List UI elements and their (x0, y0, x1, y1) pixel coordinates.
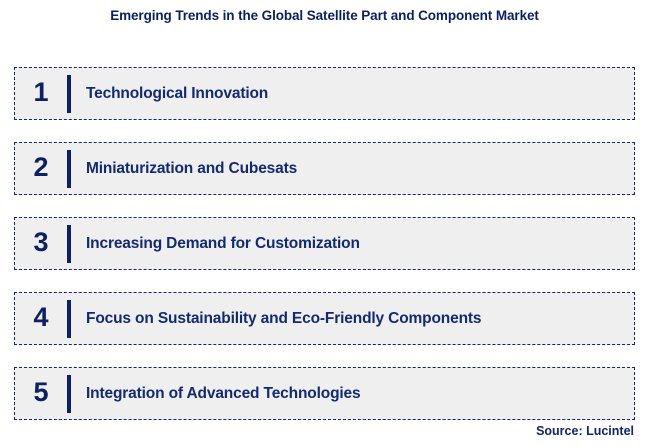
list-item[interactable]: 5 Integration of Advanced Technologies (14, 367, 635, 420)
list-item[interactable]: 4 Focus on Sustainability and Eco-Friend… (14, 292, 635, 345)
trend-rank-number: 3 (15, 229, 67, 258)
page-title: Emerging Trends in the Global Satellite … (0, 8, 649, 23)
trend-rank-number: 1 (15, 79, 67, 108)
trend-label: Increasing Demand for Customization (71, 235, 634, 253)
trend-rank-number: 5 (15, 379, 67, 408)
trend-rank-number: 2 (15, 154, 67, 183)
source-attribution: Source: Lucintel (536, 424, 634, 438)
trend-label: Miniaturization and Cubesats (71, 160, 634, 178)
trend-label: Integration of Advanced Technologies (71, 385, 634, 403)
list-item[interactable]: 3 Increasing Demand for Customization (14, 217, 635, 270)
list-item[interactable]: 2 Miniaturization and Cubesats (14, 142, 635, 195)
trend-list: 1 Technological Innovation 2 Miniaturiza… (14, 67, 635, 420)
list-item[interactable]: 1 Technological Innovation (14, 67, 635, 120)
trend-label: Technological Innovation (71, 85, 634, 103)
trends-infographic: Emerging Trends in the Global Satellite … (0, 0, 649, 447)
trend-rank-number: 4 (15, 304, 67, 333)
trend-label: Focus on Sustainability and Eco-Friendly… (71, 310, 634, 328)
